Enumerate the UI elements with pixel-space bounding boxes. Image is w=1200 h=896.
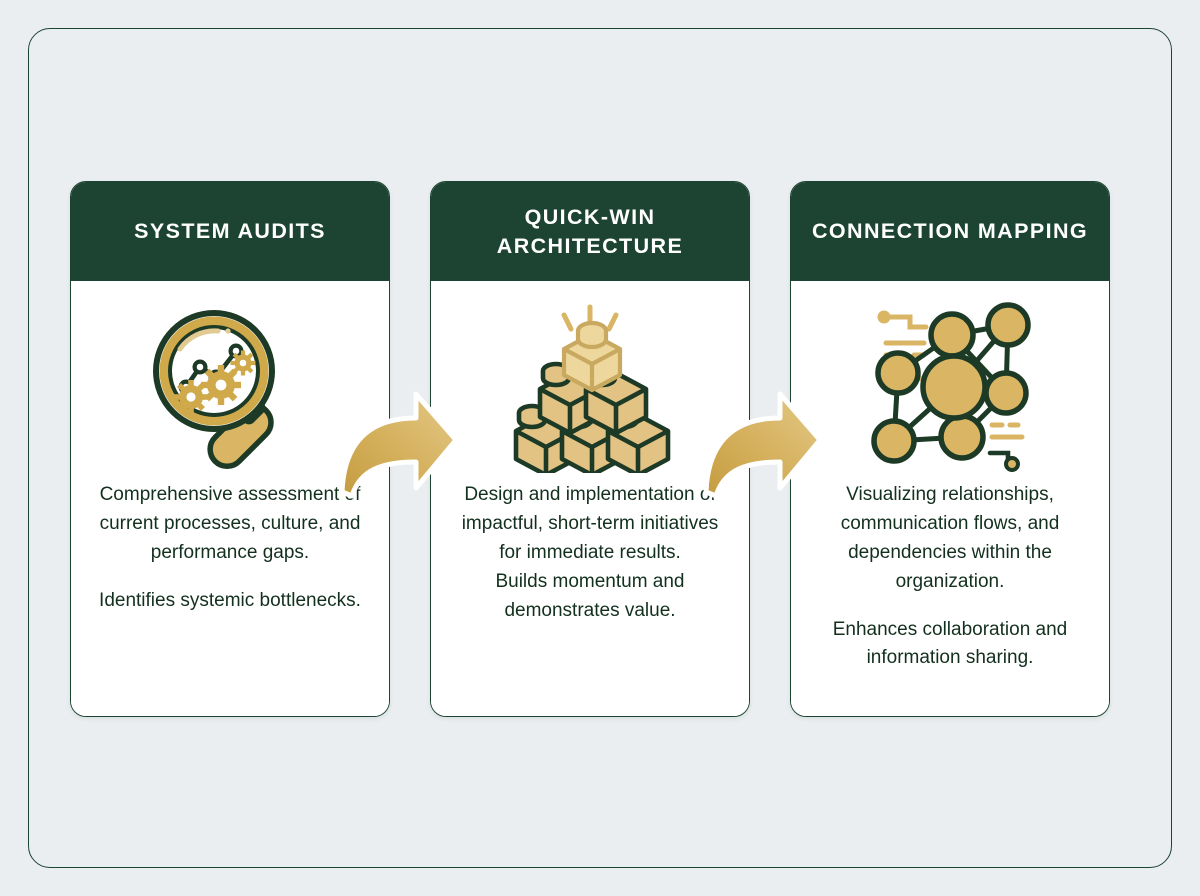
card-paragraph: Identifies systemic bottlenecks.	[93, 587, 367, 616]
card-header-quick-win-architecture: QUICK-WIN ARCHITECTURE	[431, 182, 749, 281]
network-graph-icon	[862, 297, 1038, 477]
infographic-canvas: SYSTEM AUDITS	[0, 0, 1200, 896]
card-description-system-audits: Comprehensive assessment of current proc…	[83, 481, 377, 616]
card-system-audits[interactable]: SYSTEM AUDITS	[70, 181, 390, 717]
card-description-connection-mapping: Visualizing relationships, communication…	[803, 481, 1097, 673]
card-body-system-audits: Comprehensive assessment of current proc…	[71, 281, 389, 716]
card-title: CONNECTION MAPPING	[812, 217, 1088, 245]
card-body-connection-mapping: Visualizing relationships, communication…	[791, 281, 1109, 716]
card-title: QUICK-WIN ARCHITECTURE	[447, 203, 733, 260]
card-paragraph: Visualizing relationships, communication…	[813, 481, 1087, 597]
card-paragraph: Builds momentum and demonstrates value.	[453, 568, 727, 626]
magnifying-glass-analytics-icon	[142, 297, 318, 477]
card-quick-win-architecture[interactable]: QUICK-WIN ARCHITECTURE	[430, 181, 750, 717]
card-connection-mapping[interactable]: CONNECTION MAPPING	[790, 181, 1110, 717]
card-header-system-audits: SYSTEM AUDITS	[71, 182, 389, 281]
card-body-quick-win-architecture: Design and implementation of impactful, …	[431, 281, 749, 716]
card-description-quick-win-architecture: Design and implementation of impactful, …	[443, 481, 737, 625]
card-paragraph: Design and implementation of impactful, …	[453, 481, 727, 568]
building-blocks-pyramid-icon	[502, 297, 678, 477]
card-header-connection-mapping: CONNECTION MAPPING	[791, 182, 1109, 281]
card-title: SYSTEM AUDITS	[134, 217, 326, 245]
process-step-card-row: SYSTEM AUDITS	[70, 181, 1110, 717]
card-paragraph: Comprehensive assessment of current proc…	[93, 481, 367, 568]
card-paragraph: Enhances collaboration and information s…	[813, 616, 1087, 674]
